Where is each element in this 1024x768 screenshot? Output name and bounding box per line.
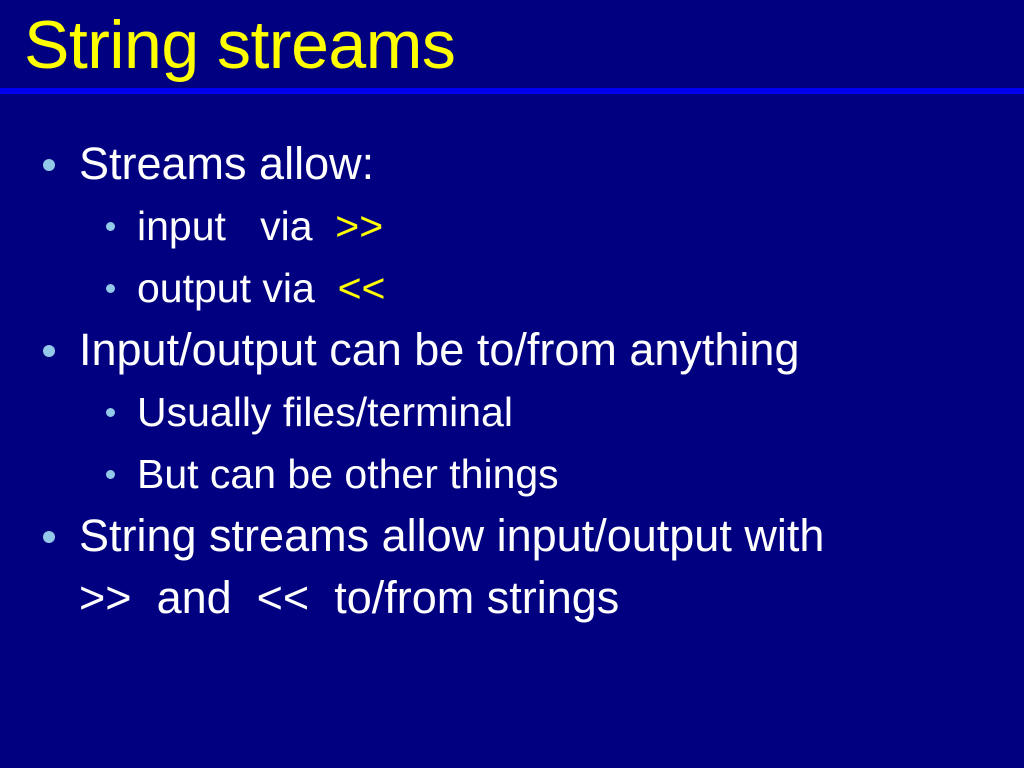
list-item-label: output via << [137, 257, 997, 319]
list-item-wrapped-line: >> and << to/from strings [79, 567, 999, 629]
list-item-text: output via [137, 265, 338, 311]
list-item-label: String streams allow input/output with>>… [79, 505, 999, 629]
bullet-dot-icon [106, 470, 115, 479]
bullet-dot-icon [106, 284, 115, 293]
list-item-label: But can be other things [137, 443, 997, 505]
conjunction-text: and [132, 572, 257, 623]
stream-operator-insertion: << [338, 265, 386, 311]
stream-operator-extraction: >> [79, 572, 132, 623]
bullet-dot-icon [43, 531, 55, 543]
list-item-label: Streams allow: [79, 133, 999, 195]
stream-operator-insertion: << [257, 572, 310, 623]
bullet-dot-icon [43, 159, 55, 171]
slide-title-area: String streams [0, 0, 1024, 88]
slide: String streams Streams allow: input via … [0, 0, 1024, 768]
list-item-label: Usually files/terminal [137, 381, 997, 443]
slide-body: Streams allow: input via >> output via <… [0, 94, 1024, 768]
bullet-dot-icon [106, 408, 115, 417]
list-item-text: input via [137, 203, 335, 249]
list-item-text: String streams allow input/output with [79, 510, 824, 561]
list-item-tail-text: to/from strings [309, 572, 619, 623]
bullet-dot-icon [106, 222, 115, 231]
page-title: String streams [24, 8, 455, 82]
list-item-label: input via >> [137, 195, 997, 257]
stream-operator-extraction: >> [335, 203, 383, 249]
bullet-dot-icon [43, 345, 55, 357]
list-item-label: Input/output can be to/from anything [79, 319, 999, 381]
